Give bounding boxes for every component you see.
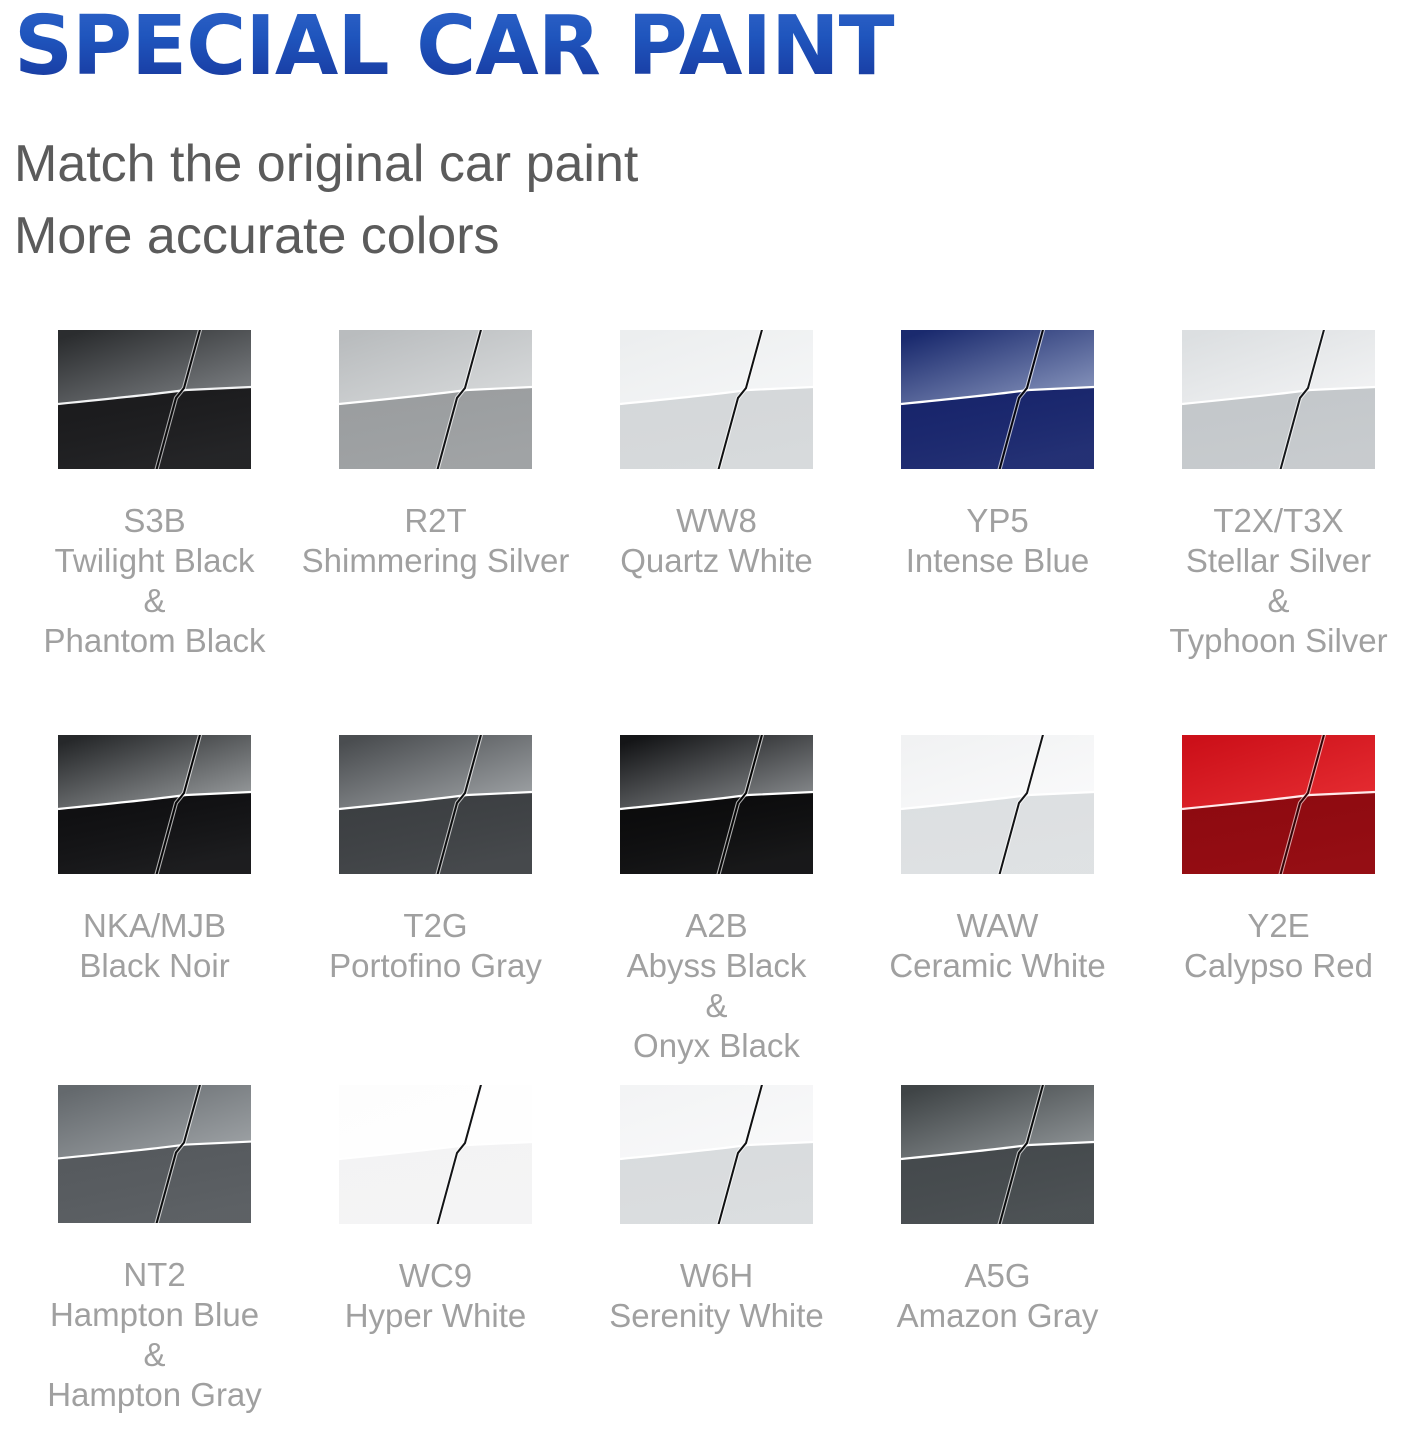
paint-code: WAW bbox=[863, 906, 1133, 946]
paint-swatch-nka-mjb[interactable]: NKA/MJBBlack Noir bbox=[14, 735, 295, 1085]
swatch-row: NT2Hampton Blue & Hampton GrayWC9Hyper W… bbox=[14, 1085, 1393, 1415]
paint-swatch-y2e[interactable]: Y2ECalypso Red bbox=[1138, 735, 1407, 1085]
paint-swatch-w6h[interactable]: W6HSerenity White bbox=[576, 1085, 857, 1415]
page-subtitle: Match the original car paint More accura… bbox=[14, 92, 1393, 272]
paint-swatch-image bbox=[901, 735, 1094, 874]
paint-name: Hyper White bbox=[301, 1296, 571, 1336]
paint-swatch-image bbox=[620, 735, 813, 874]
paint-name: Quartz White bbox=[582, 541, 852, 581]
paint-code: A5G bbox=[863, 1256, 1133, 1296]
swatch-row: NKA/MJBBlack NoirT2GPortofino GrayA2BAby… bbox=[14, 735, 1393, 1085]
paint-swatch-caption: R2TShimmering Silver bbox=[301, 501, 571, 581]
paint-swatch-nt2[interactable]: NT2Hampton Blue & Hampton Gray bbox=[14, 1085, 295, 1415]
page-title: SPECIAL CAR PAINT bbox=[14, 0, 1393, 92]
paint-name: Abyss Black & Onyx Black bbox=[582, 946, 852, 1066]
paint-swatch-s3b[interactable]: S3BTwilight Black & Phantom Black bbox=[14, 330, 295, 735]
paint-name: Black Noir bbox=[20, 946, 290, 986]
paint-name: Portofino Gray bbox=[301, 946, 571, 986]
paint-swatch-image bbox=[58, 330, 251, 469]
paint-name: Ceramic White bbox=[863, 946, 1133, 986]
paint-swatch-caption: T2X/T3XStellar Silver & Typhoon Silver bbox=[1144, 501, 1407, 661]
paint-swatch-image bbox=[901, 1085, 1094, 1224]
paint-code: W6H bbox=[582, 1256, 852, 1296]
paint-swatch-waw[interactable]: WAWCeramic White bbox=[857, 735, 1138, 1085]
paint-name: Hampton Blue & Hampton Gray bbox=[20, 1295, 290, 1415]
paint-swatch-yp5[interactable]: YP5Intense Blue bbox=[857, 330, 1138, 735]
paint-swatch-image bbox=[58, 735, 251, 874]
paint-swatch-caption: NT2Hampton Blue & Hampton Gray bbox=[20, 1255, 290, 1415]
paint-swatch-a2b[interactable]: A2BAbyss Black & Onyx Black bbox=[576, 735, 857, 1085]
paint-name: Calypso Red bbox=[1144, 946, 1407, 986]
paint-swatch-image bbox=[339, 735, 532, 874]
paint-swatch-image bbox=[901, 330, 1094, 469]
paint-name: Intense Blue bbox=[863, 541, 1133, 581]
paint-code: T2G bbox=[301, 906, 571, 946]
paint-swatch-caption: Y2ECalypso Red bbox=[1144, 906, 1407, 986]
paint-code: Y2E bbox=[1144, 906, 1407, 946]
paint-swatch-caption: WC9Hyper White bbox=[301, 1256, 571, 1336]
paint-code: A2B bbox=[582, 906, 852, 946]
paint-swatch-t2x-t3x[interactable]: T2X/T3XStellar Silver & Typhoon Silver bbox=[1138, 330, 1407, 735]
paint-name: Serenity White bbox=[582, 1296, 852, 1336]
paint-swatch-ww8[interactable]: WW8Quartz White bbox=[576, 330, 857, 735]
paint-code: WC9 bbox=[301, 1256, 571, 1296]
subtitle-line-1: Match the original car paint bbox=[14, 128, 1393, 200]
paint-code: T2X/T3X bbox=[1144, 501, 1407, 541]
swatch-row: S3BTwilight Black & Phantom BlackR2TShim… bbox=[14, 330, 1393, 735]
paint-name: Stellar Silver & Typhoon Silver bbox=[1144, 541, 1407, 661]
paint-swatch-caption: A2BAbyss Black & Onyx Black bbox=[582, 906, 852, 1066]
paint-swatch-grid: S3BTwilight Black & Phantom BlackR2TShim… bbox=[14, 330, 1393, 1415]
paint-swatch-a5g[interactable]: A5GAmazon Gray bbox=[857, 1085, 1138, 1415]
paint-code: YP5 bbox=[863, 501, 1133, 541]
paint-name: Amazon Gray bbox=[863, 1296, 1133, 1336]
paint-code: S3B bbox=[20, 501, 290, 541]
paint-swatch-image bbox=[1182, 735, 1375, 874]
paint-swatch-t2g[interactable]: T2GPortofino Gray bbox=[295, 735, 576, 1085]
paint-swatch-r2t[interactable]: R2TShimmering Silver bbox=[295, 330, 576, 735]
paint-swatch-caption: YP5Intense Blue bbox=[863, 501, 1133, 581]
paint-swatch-image bbox=[1182, 330, 1375, 469]
subtitle-line-2: More accurate colors bbox=[14, 200, 1393, 272]
paint-swatch-image bbox=[620, 330, 813, 469]
paint-swatch-image bbox=[58, 1085, 251, 1223]
paint-chart-page: SPECIAL CAR PAINT Match the original car… bbox=[0, 0, 1407, 1431]
paint-swatch-image bbox=[620, 1085, 813, 1224]
paint-swatch-caption: T2GPortofino Gray bbox=[301, 906, 571, 986]
paint-swatch-caption: S3BTwilight Black & Phantom Black bbox=[20, 501, 290, 661]
paint-swatch-image bbox=[339, 1085, 532, 1224]
paint-name: Shimmering Silver bbox=[301, 541, 571, 581]
paint-swatch-caption: W6HSerenity White bbox=[582, 1256, 852, 1336]
paint-swatch-caption: NKA/MJBBlack Noir bbox=[20, 906, 290, 986]
paint-swatch-image bbox=[339, 330, 532, 469]
paint-swatch-caption: A5GAmazon Gray bbox=[863, 1256, 1133, 1336]
paint-code: NKA/MJB bbox=[20, 906, 290, 946]
paint-swatch-wc9[interactable]: WC9Hyper White bbox=[295, 1085, 576, 1415]
paint-code: WW8 bbox=[582, 501, 852, 541]
paint-code: NT2 bbox=[20, 1255, 290, 1295]
paint-name: Twilight Black & Phantom Black bbox=[20, 541, 290, 661]
paint-code: R2T bbox=[301, 501, 571, 541]
paint-swatch-caption: WW8Quartz White bbox=[582, 501, 852, 581]
paint-swatch-caption: WAWCeramic White bbox=[863, 906, 1133, 986]
